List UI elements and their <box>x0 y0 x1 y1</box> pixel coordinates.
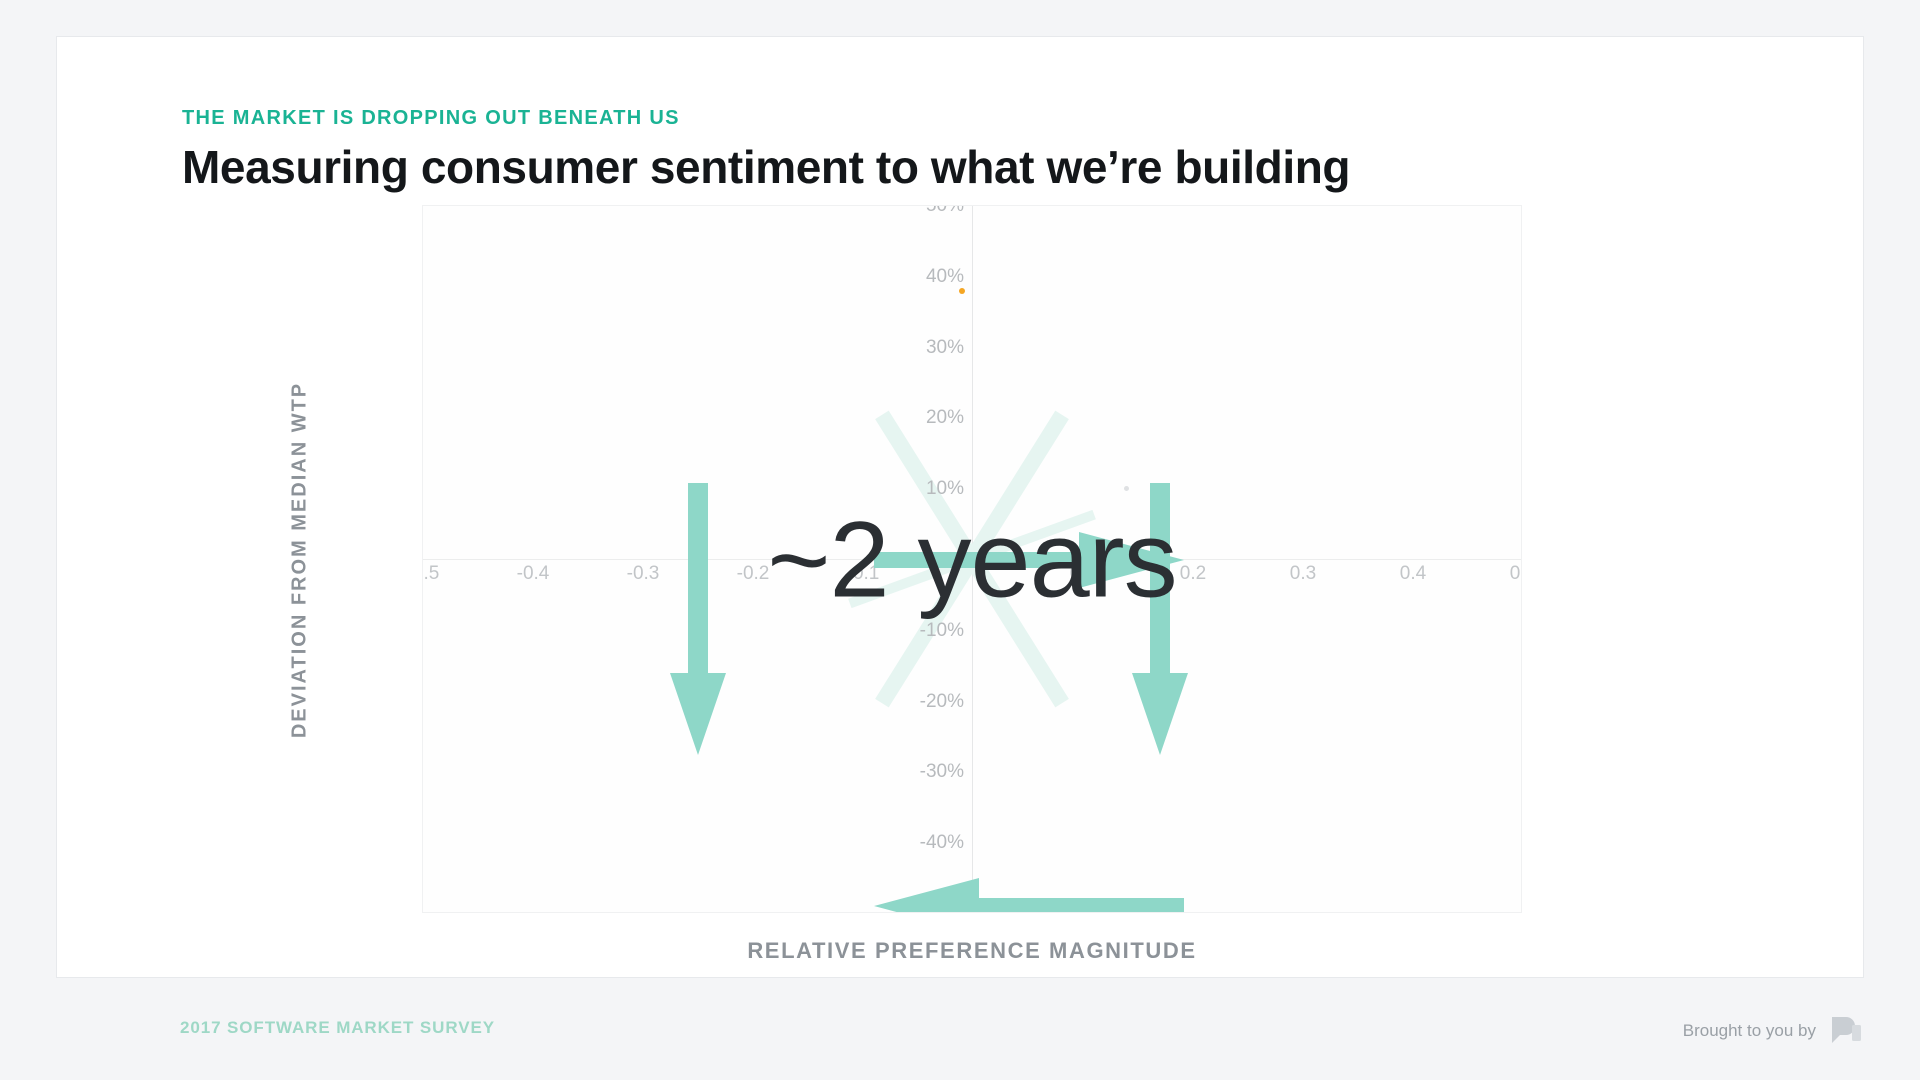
center-callout: ~2 years <box>767 497 1176 622</box>
y-tick-label: -20% <box>920 691 964 713</box>
y-tick-label: 20% <box>926 407 964 429</box>
page-title: Measuring consumer sentiment to what we’… <box>182 140 1350 194</box>
arrow-left <box>874 878 1184 913</box>
y-tick-label: -10% <box>920 620 964 642</box>
y-tick-label: 30% <box>926 337 964 359</box>
footer-source: 2017 SOFTWARE MARKET SURVEY <box>180 1018 495 1038</box>
slide-kicker: THE MARKET IS DROPPING OUT BENEATH US <box>182 107 680 130</box>
attribution-label: Brought to you by <box>1683 1021 1816 1041</box>
y-tick-label: 40% <box>926 266 964 288</box>
footer-attribution: Brought to you by <box>1683 1014 1864 1048</box>
x-tick-label: -0.2 <box>737 563 770 585</box>
y-tick-label: 50% <box>926 205 964 217</box>
x-axis-title: RELATIVE PREFERENCE MAGNITUDE <box>422 938 1522 964</box>
y-tick-label: -30% <box>920 761 964 783</box>
y-axis-title: DEVIATION FROM MEDIAN WTP <box>289 382 312 738</box>
slide-root: THE MARKET IS DROPPING OUT BENEATH US Me… <box>0 0 1920 1080</box>
y-tick-label: -40% <box>920 832 964 854</box>
x-tick-label: -0.4 <box>517 563 550 585</box>
p-logo-icon <box>1830 1014 1864 1048</box>
data-point <box>959 288 965 294</box>
x-tick-label: -0.5 <box>422 563 439 585</box>
arrow-down-left <box>670 483 726 755</box>
x-tick-label: 0.4 <box>1400 563 1426 585</box>
chart-plot-area: 50%40%30%20%10%-10%-20%-30%-40%-50% -0.5… <box>422 205 1522 913</box>
x-tick-label: -0.3 <box>627 563 660 585</box>
data-point <box>1124 486 1129 491</box>
x-tick-label: 0.3 <box>1290 563 1316 585</box>
x-tick-label: 0.5 <box>1510 563 1522 585</box>
